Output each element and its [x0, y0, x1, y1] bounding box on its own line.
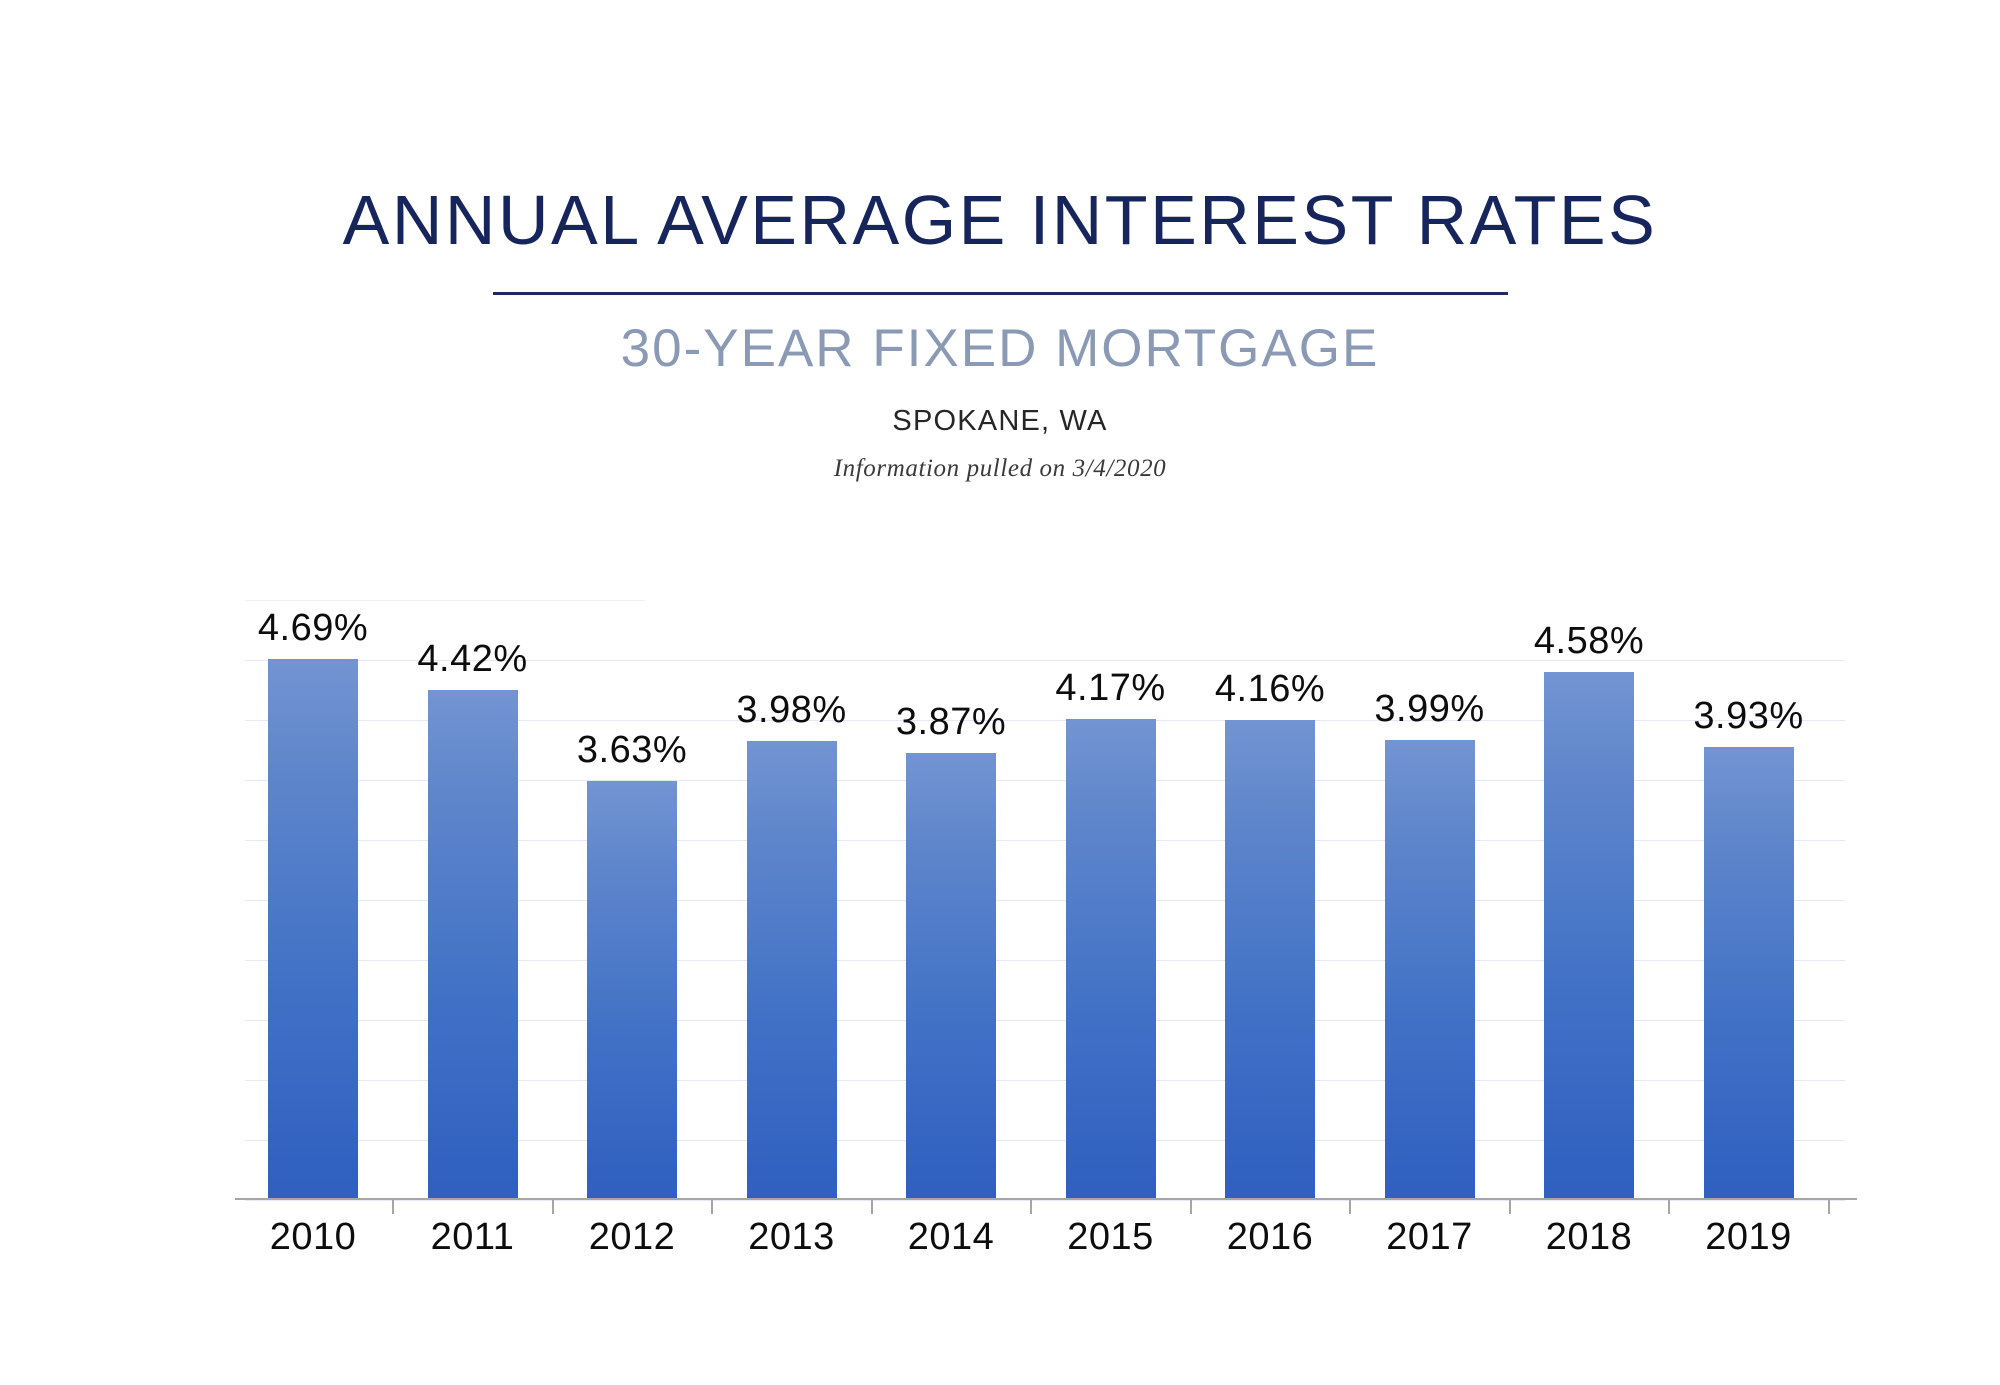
- bar-value-label: 4.58%: [1489, 622, 1689, 660]
- x-axis-tick: [1509, 1200, 1511, 1214]
- bar-2014[interactable]: [906, 753, 996, 1200]
- bar-2019[interactable]: [1704, 747, 1794, 1200]
- chart-location: SPOKANE, WA: [0, 375, 2000, 436]
- chart-subtitle: 30-YEAR FIXED MORTGAGE: [0, 295, 2000, 375]
- page-title: ANNUAL AVERAGE INTEREST RATES: [0, 0, 2000, 255]
- x-axis-label-2019: 2019: [1649, 1218, 1849, 1256]
- x-axis-line: [235, 1198, 1857, 1200]
- bar-2016[interactable]: [1225, 720, 1315, 1200]
- bar-2017[interactable]: [1385, 740, 1475, 1200]
- bar-2013[interactable]: [747, 741, 837, 1200]
- x-axis-tick: [1190, 1200, 1192, 1214]
- x-axis-tick: [1668, 1200, 1670, 1214]
- bar-series: 4.69%4.42%3.63%3.98%3.87%4.17%4.16%3.99%…: [235, 600, 1845, 1200]
- chart-header: ANNUAL AVERAGE INTEREST RATES 30-YEAR FI…: [0, 0, 2000, 481]
- bar-2012[interactable]: [587, 781, 677, 1200]
- x-axis-tick: [552, 1200, 554, 1214]
- bar-value-label: 4.42%: [373, 640, 573, 678]
- bar-2015[interactable]: [1066, 719, 1156, 1200]
- bar-value-label: 3.63%: [532, 731, 732, 769]
- x-axis-tick: [1030, 1200, 1032, 1214]
- bar-2011[interactable]: [428, 690, 518, 1200]
- bar-2010[interactable]: [268, 659, 358, 1200]
- bar-2018[interactable]: [1544, 672, 1634, 1200]
- x-axis-tick: [392, 1200, 394, 1214]
- gridline: [245, 1200, 1845, 1201]
- bar-chart-plot-area: 4.69%4.42%3.63%3.98%3.87%4.17%4.16%3.99%…: [235, 600, 1845, 1200]
- x-axis-tick: [1349, 1200, 1351, 1214]
- x-axis-tick: [711, 1200, 713, 1214]
- bar-value-label: 3.99%: [1330, 690, 1530, 728]
- chart-source-note: Information pulled on 3/4/2020: [0, 436, 2000, 481]
- x-axis-tick: [871, 1200, 873, 1214]
- bar-value-label: 3.87%: [851, 703, 1051, 741]
- x-axis-tick: [1828, 1200, 1830, 1214]
- bar-value-label: 3.93%: [1649, 697, 1849, 735]
